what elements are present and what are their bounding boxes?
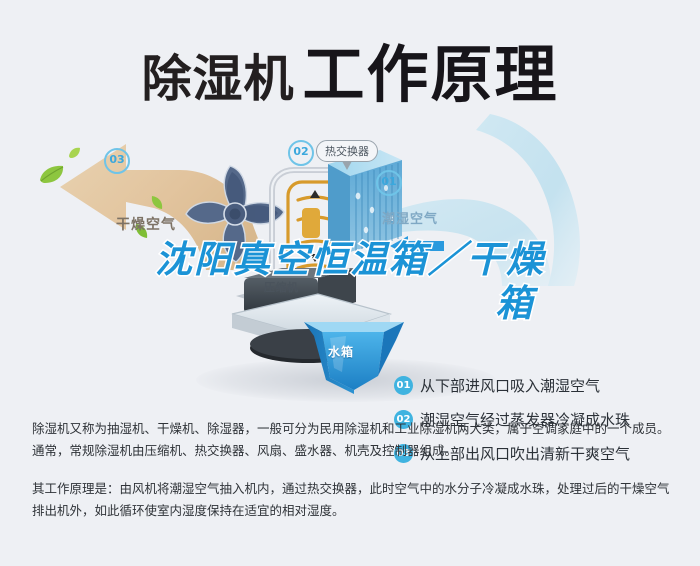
page-title: 除湿机工作原理 — [0, 24, 700, 114]
dry-air-label: 干燥空气 — [116, 214, 176, 234]
legend-item: 01 从下部进风口吸入潮湿空气 — [394, 370, 694, 400]
humid-air-label: 潮湿空气 — [382, 208, 438, 227]
leaf-icon — [68, 146, 81, 164]
intake-arrow-icon — [390, 236, 444, 261]
compressor-label: 压缩机 — [264, 279, 299, 295]
diagram-badge-03: 03 — [104, 148, 130, 174]
diagram-badge-01: 01 — [376, 170, 402, 196]
description-paragraph-1: 除湿机又称为抽湿机、干燥机、除湿器，一般可分为民用除湿机和工业除湿机两大类，属于… — [32, 418, 672, 462]
heat-exchanger-callout: 热交换器 — [316, 140, 378, 162]
legend-label: 从下部进风口吸入潮湿空气 — [420, 375, 600, 396]
legend-number: 01 — [394, 376, 413, 395]
description-section: 除湿机又称为抽湿机、干燥机、除湿器，一般可分为民用除湿机和工业除湿机两大类，属于… — [32, 418, 672, 522]
page-title-main: 工作原理 — [302, 41, 558, 110]
diagram-badge-02: 02 — [288, 140, 314, 166]
dehumidifier-diagram: 03 02 01 热交换器 干燥空气 潮湿空气 压缩机 水箱 01 从下部进风口… — [0, 118, 700, 400]
page-title-prefix: 除湿机 — [141, 51, 294, 107]
description-paragraph-2: 其工作原理是：由风机将潮湿空气抽入机内，通过热交换器，此时空气中的水分子冷凝成水… — [32, 478, 672, 522]
water-tank-label: 水箱 — [328, 343, 354, 360]
leaf-icon — [150, 194, 164, 215]
leaf-icon — [38, 164, 66, 189]
